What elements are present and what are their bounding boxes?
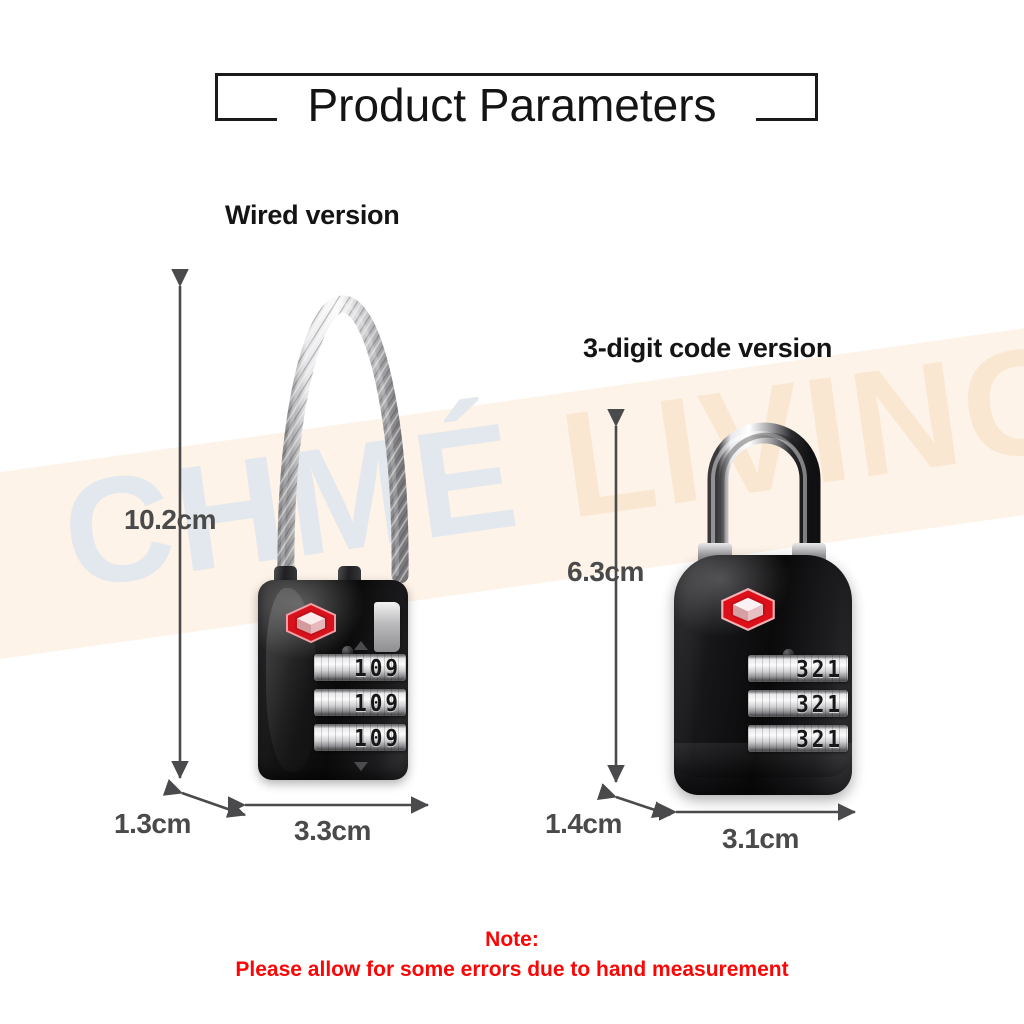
dial-row[interactable]: 321 (748, 655, 848, 682)
dial-digits: 109 (354, 689, 406, 716)
dial-marker-top (354, 641, 368, 650)
note-text: Please allow for some errors due to hand… (0, 955, 1024, 985)
steel-cable (228, 270, 458, 600)
dial-digits: 321 (796, 690, 848, 717)
tsa-diamond-icon (720, 587, 776, 632)
dial-digits: 109 (354, 654, 406, 681)
combination-dials-wired[interactable]: 109 109 109 (314, 654, 406, 759)
dial-marker-bottom (354, 762, 368, 771)
dial-row[interactable]: 321 (748, 725, 848, 752)
dimension-label-code-depth: 1.4cm (545, 808, 622, 840)
product-parameters-infographic: CHMÉ LIVING Product Parameters Wired ver… (0, 0, 1024, 1024)
dimension-label-code-height: 6.3cm (567, 556, 644, 588)
dimension-line-wired-depth (182, 793, 245, 815)
dimension-label-wired-height: 10.2cm (124, 504, 216, 536)
dial-row[interactable]: 321 (748, 690, 848, 717)
combination-dials-code[interactable]: 321 321 321 (748, 655, 848, 760)
release-tab[interactable] (374, 602, 400, 652)
product-image-wired-version: 109 109 109 (228, 270, 458, 790)
dial-row[interactable]: 109 (314, 654, 406, 681)
dimension-label-wired-width: 3.3cm (294, 815, 371, 847)
dimension-label-wired-depth: 1.3cm (114, 808, 191, 840)
section-heading-code: 3-digit code version (583, 333, 832, 364)
watermark-band (0, 320, 1024, 665)
dimension-line-code-depth (616, 797, 670, 815)
dial-row[interactable]: 109 (314, 689, 406, 716)
note-label: Note: (0, 925, 1024, 955)
dial-digits: 321 (796, 725, 848, 752)
product-image-code-version: 321 321 321 (662, 405, 862, 795)
note-block: Note: Please allow for some errors due t… (0, 925, 1024, 985)
dimension-label-code-width: 3.1cm (722, 823, 799, 855)
page-title: Product Parameters (0, 78, 1024, 132)
dial-digits: 109 (354, 724, 406, 751)
dial-row[interactable]: 109 (314, 724, 406, 751)
section-heading-wired: Wired version (225, 200, 399, 231)
dial-digits: 321 (796, 655, 848, 682)
watermark-text: CHMÉ LIVING (54, 323, 1024, 611)
tsa-diamond-icon (285, 602, 337, 644)
